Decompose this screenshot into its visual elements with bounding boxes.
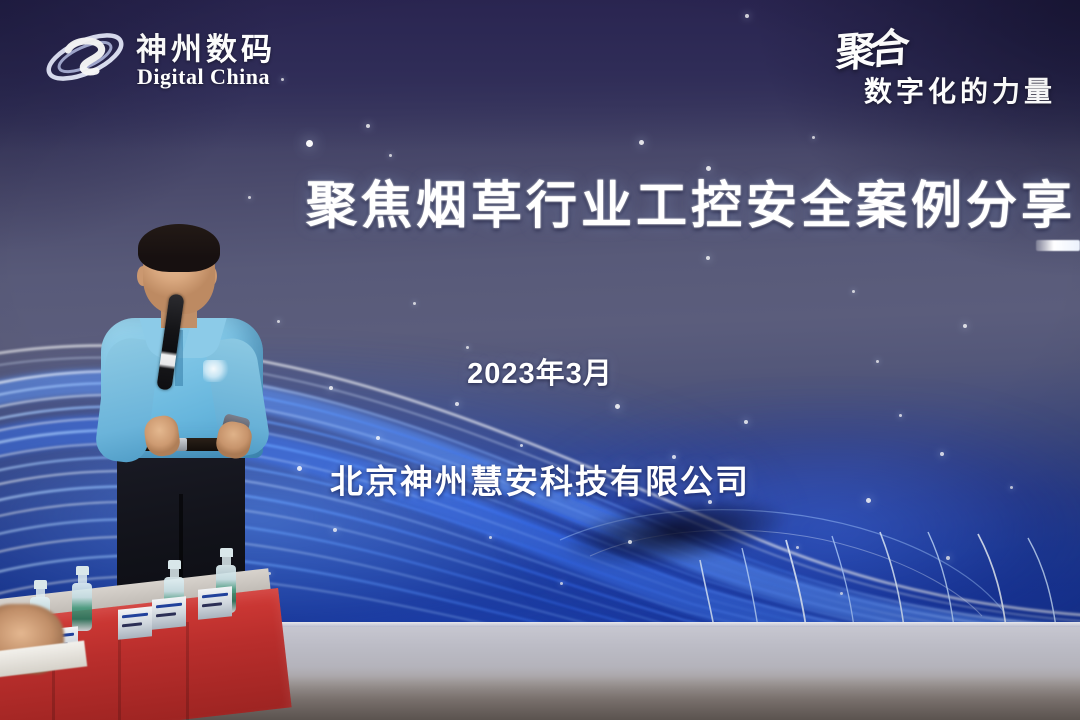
bokeh-particle — [899, 414, 902, 417]
bokeh-particle — [812, 136, 815, 139]
conference-photo: 神州数码 Digital China 聚合 数字化的力量 聚焦烟草行业工控安全案… — [0, 0, 1080, 720]
bottle-neck — [36, 589, 45, 597]
bokeh-particle — [744, 420, 748, 424]
bokeh-particle — [628, 540, 632, 544]
brand-name-en: Digital China — [137, 64, 270, 90]
bokeh-particle — [455, 402, 459, 406]
event-tagline: 数字化的力量 — [864, 70, 1056, 110]
bokeh-particle — [615, 404, 620, 409]
bottle-neck — [170, 569, 179, 577]
bottle-neck — [222, 557, 231, 565]
bokeh-particle — [639, 140, 644, 145]
bokeh-particle — [466, 346, 469, 349]
bottle-cap — [34, 580, 47, 589]
bokeh-particle — [840, 592, 843, 595]
bottle-cap — [220, 548, 233, 557]
bottle-cap — [76, 566, 89, 575]
water-bottle — [72, 566, 92, 631]
bokeh-particle — [366, 124, 370, 128]
bokeh-particle — [745, 14, 749, 18]
speaker-hair — [138, 224, 220, 272]
bokeh-particle — [946, 556, 950, 560]
bokeh-particle — [389, 154, 392, 157]
bokeh-particle — [706, 166, 711, 171]
brand-name-cn: 神州数码 — [136, 24, 276, 69]
bokeh-particle — [796, 546, 799, 549]
bokeh-particle — [963, 324, 967, 328]
bokeh-particle — [248, 196, 251, 199]
event-logo: 聚合 数字化的力量 — [808, 18, 1058, 110]
bokeh-particle — [333, 528, 337, 532]
skirt-fold — [186, 622, 189, 720]
bokeh-particle — [277, 320, 280, 323]
swirl-galaxy-icon — [44, 26, 126, 88]
bokeh-particle — [413, 302, 416, 305]
bokeh-particle — [306, 140, 313, 147]
bokeh-particle — [852, 290, 855, 293]
shirt-logo — [203, 360, 229, 382]
presentation-title: 聚焦烟草行业工控安全案例分享 — [306, 180, 1076, 231]
bottle-cap — [168, 560, 181, 569]
name-card — [118, 606, 152, 640]
bokeh-particle — [560, 582, 563, 585]
bokeh-particle — [489, 536, 492, 539]
name-card — [152, 596, 186, 630]
bokeh-particle — [376, 436, 380, 440]
light-streak — [1036, 240, 1080, 251]
bottle-neck — [78, 575, 87, 583]
digital-china-logo: 神州数码 Digital China — [44, 22, 314, 94]
name-card — [198, 586, 232, 620]
bokeh-particle — [520, 444, 523, 447]
bokeh-particle — [706, 256, 710, 260]
bottle-body — [72, 583, 92, 631]
